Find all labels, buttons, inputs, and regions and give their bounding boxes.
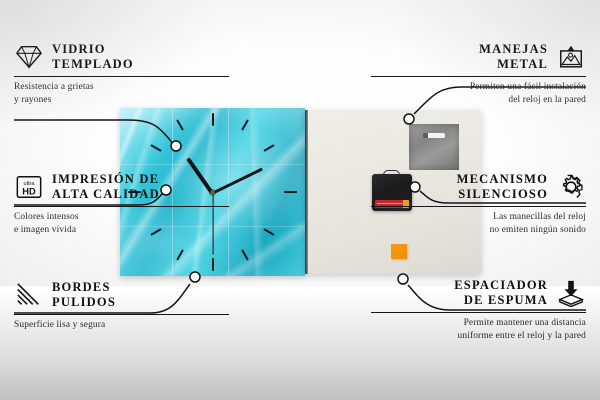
hanger-slot (423, 133, 445, 138)
diamond-icon (14, 43, 44, 71)
feature-header: MANEJAS METAL (371, 42, 586, 73)
feature-desc-line1: Superficie lisa y segura (14, 319, 229, 332)
polished-edge-icon (14, 281, 44, 309)
feature-title-line1: MECANISMO (457, 172, 548, 187)
feature-title-line2: TEMPLADO (52, 57, 134, 72)
feature-description: Superficie lisa y segura (14, 319, 229, 332)
metal-hanger-plate (409, 124, 459, 170)
feature-header: VIDRIO TEMPLADO (14, 42, 229, 73)
feature-espaciador-espuma: ESPACIADOR DE ESPUMA Permite mantener un… (371, 278, 586, 342)
feature-title: BORDES PULIDOS (52, 280, 116, 311)
feature-bordes-pulidos: BORDES PULIDOS Superficie lisa y segura (14, 280, 229, 332)
feature-title: VIDRIO TEMPLADO (52, 42, 134, 73)
hour-mark (212, 258, 214, 271)
infographic-canvas: VIDRIO TEMPLADO Resistencia a grietas y … (0, 0, 600, 400)
feature-title-line1: BORDES (52, 280, 116, 295)
feature-description: Permiten una fácil instalación del reloj… (371, 81, 586, 106)
feature-title-line1: MANEJAS (479, 42, 548, 57)
feature-title-line1: VIDRIO (52, 42, 134, 57)
feature-title-line1: ESPACIADOR (454, 278, 548, 293)
divider (371, 206, 586, 208)
feature-header: ultra HD IMPRESIÓN DE ALTA CALIDAD (14, 172, 229, 203)
feature-desc-line1: Colores intensos (14, 211, 229, 224)
feature-desc-line2: e imagen vívida (14, 224, 229, 237)
feature-description: Colores intensos e imagen vívida (14, 211, 229, 236)
feature-title: MANEJAS METAL (479, 42, 548, 73)
hour-mark (212, 113, 214, 126)
feature-title-line1: IMPRESIÓN DE (52, 172, 160, 187)
feature-desc-line1: Permite mantener una distancia (371, 317, 586, 330)
divider (371, 312, 586, 314)
feature-title-line2: METAL (479, 57, 548, 72)
glass-band (120, 164, 305, 165)
feature-desc-line2: del reloj en la pared (371, 94, 586, 107)
feature-header: BORDES PULIDOS (14, 280, 229, 311)
divider (14, 76, 229, 78)
ultra-hd-icon: ultra HD (14, 173, 44, 201)
feature-title-line2: DE ESPUMA (454, 293, 548, 308)
feature-vidrio-templado: VIDRIO TEMPLADO Resistencia a grietas y … (14, 42, 229, 106)
feature-manejas-metal: MANEJAS METAL Permiten una fácil instala… (371, 42, 586, 106)
feature-title-line2: SILENCIOSO (457, 187, 548, 202)
feature-header: MECANISMO SILENCIOSO (371, 172, 586, 203)
feature-desc-line2: uniforme entre el reloj y la pared (371, 330, 586, 343)
feature-title-line2: ALTA CALIDAD (52, 187, 160, 202)
feature-description: Resistencia a grietas y rayones (14, 81, 229, 106)
divider (14, 314, 229, 316)
feature-header: ESPACIADOR DE ESPUMA (371, 278, 586, 309)
feature-desc-line1: Las manecillas del reloj (371, 211, 586, 224)
feature-desc-line1: Resistencia a grietas (14, 81, 229, 94)
foam-spacer (391, 244, 407, 259)
gear-icon (556, 173, 586, 201)
feature-title: MECANISMO SILENCIOSO (457, 172, 548, 203)
svg-text:HD: HD (22, 187, 36, 197)
panel-edge (305, 110, 308, 274)
feature-title-line2: PULIDOS (52, 295, 116, 310)
feature-description: Las manecillas del reloj no emiten ningú… (371, 211, 586, 236)
divider (371, 76, 586, 78)
hour-mark (284, 191, 297, 193)
feature-desc-line1: Permiten una fácil instalación (371, 81, 586, 94)
feature-title: IMPRESIÓN DE ALTA CALIDAD (52, 172, 160, 203)
feature-impresion-alta-calidad: ultra HD IMPRESIÓN DE ALTA CALIDAD Color… (14, 172, 229, 236)
foam-spacer-icon (556, 279, 586, 307)
feature-desc-line2: y rayones (14, 94, 229, 107)
divider (14, 206, 229, 208)
picture-hanger-icon (556, 43, 586, 71)
feature-mecanismo-silencioso: MECANISMO SILENCIOSO Las manecillas del … (371, 172, 586, 236)
feature-desc-line2: no emiten ningún sonido (371, 224, 586, 237)
feature-description: Permite mantener una distancia uniforme … (371, 317, 586, 342)
feature-title: ESPACIADOR DE ESPUMA (454, 278, 548, 309)
